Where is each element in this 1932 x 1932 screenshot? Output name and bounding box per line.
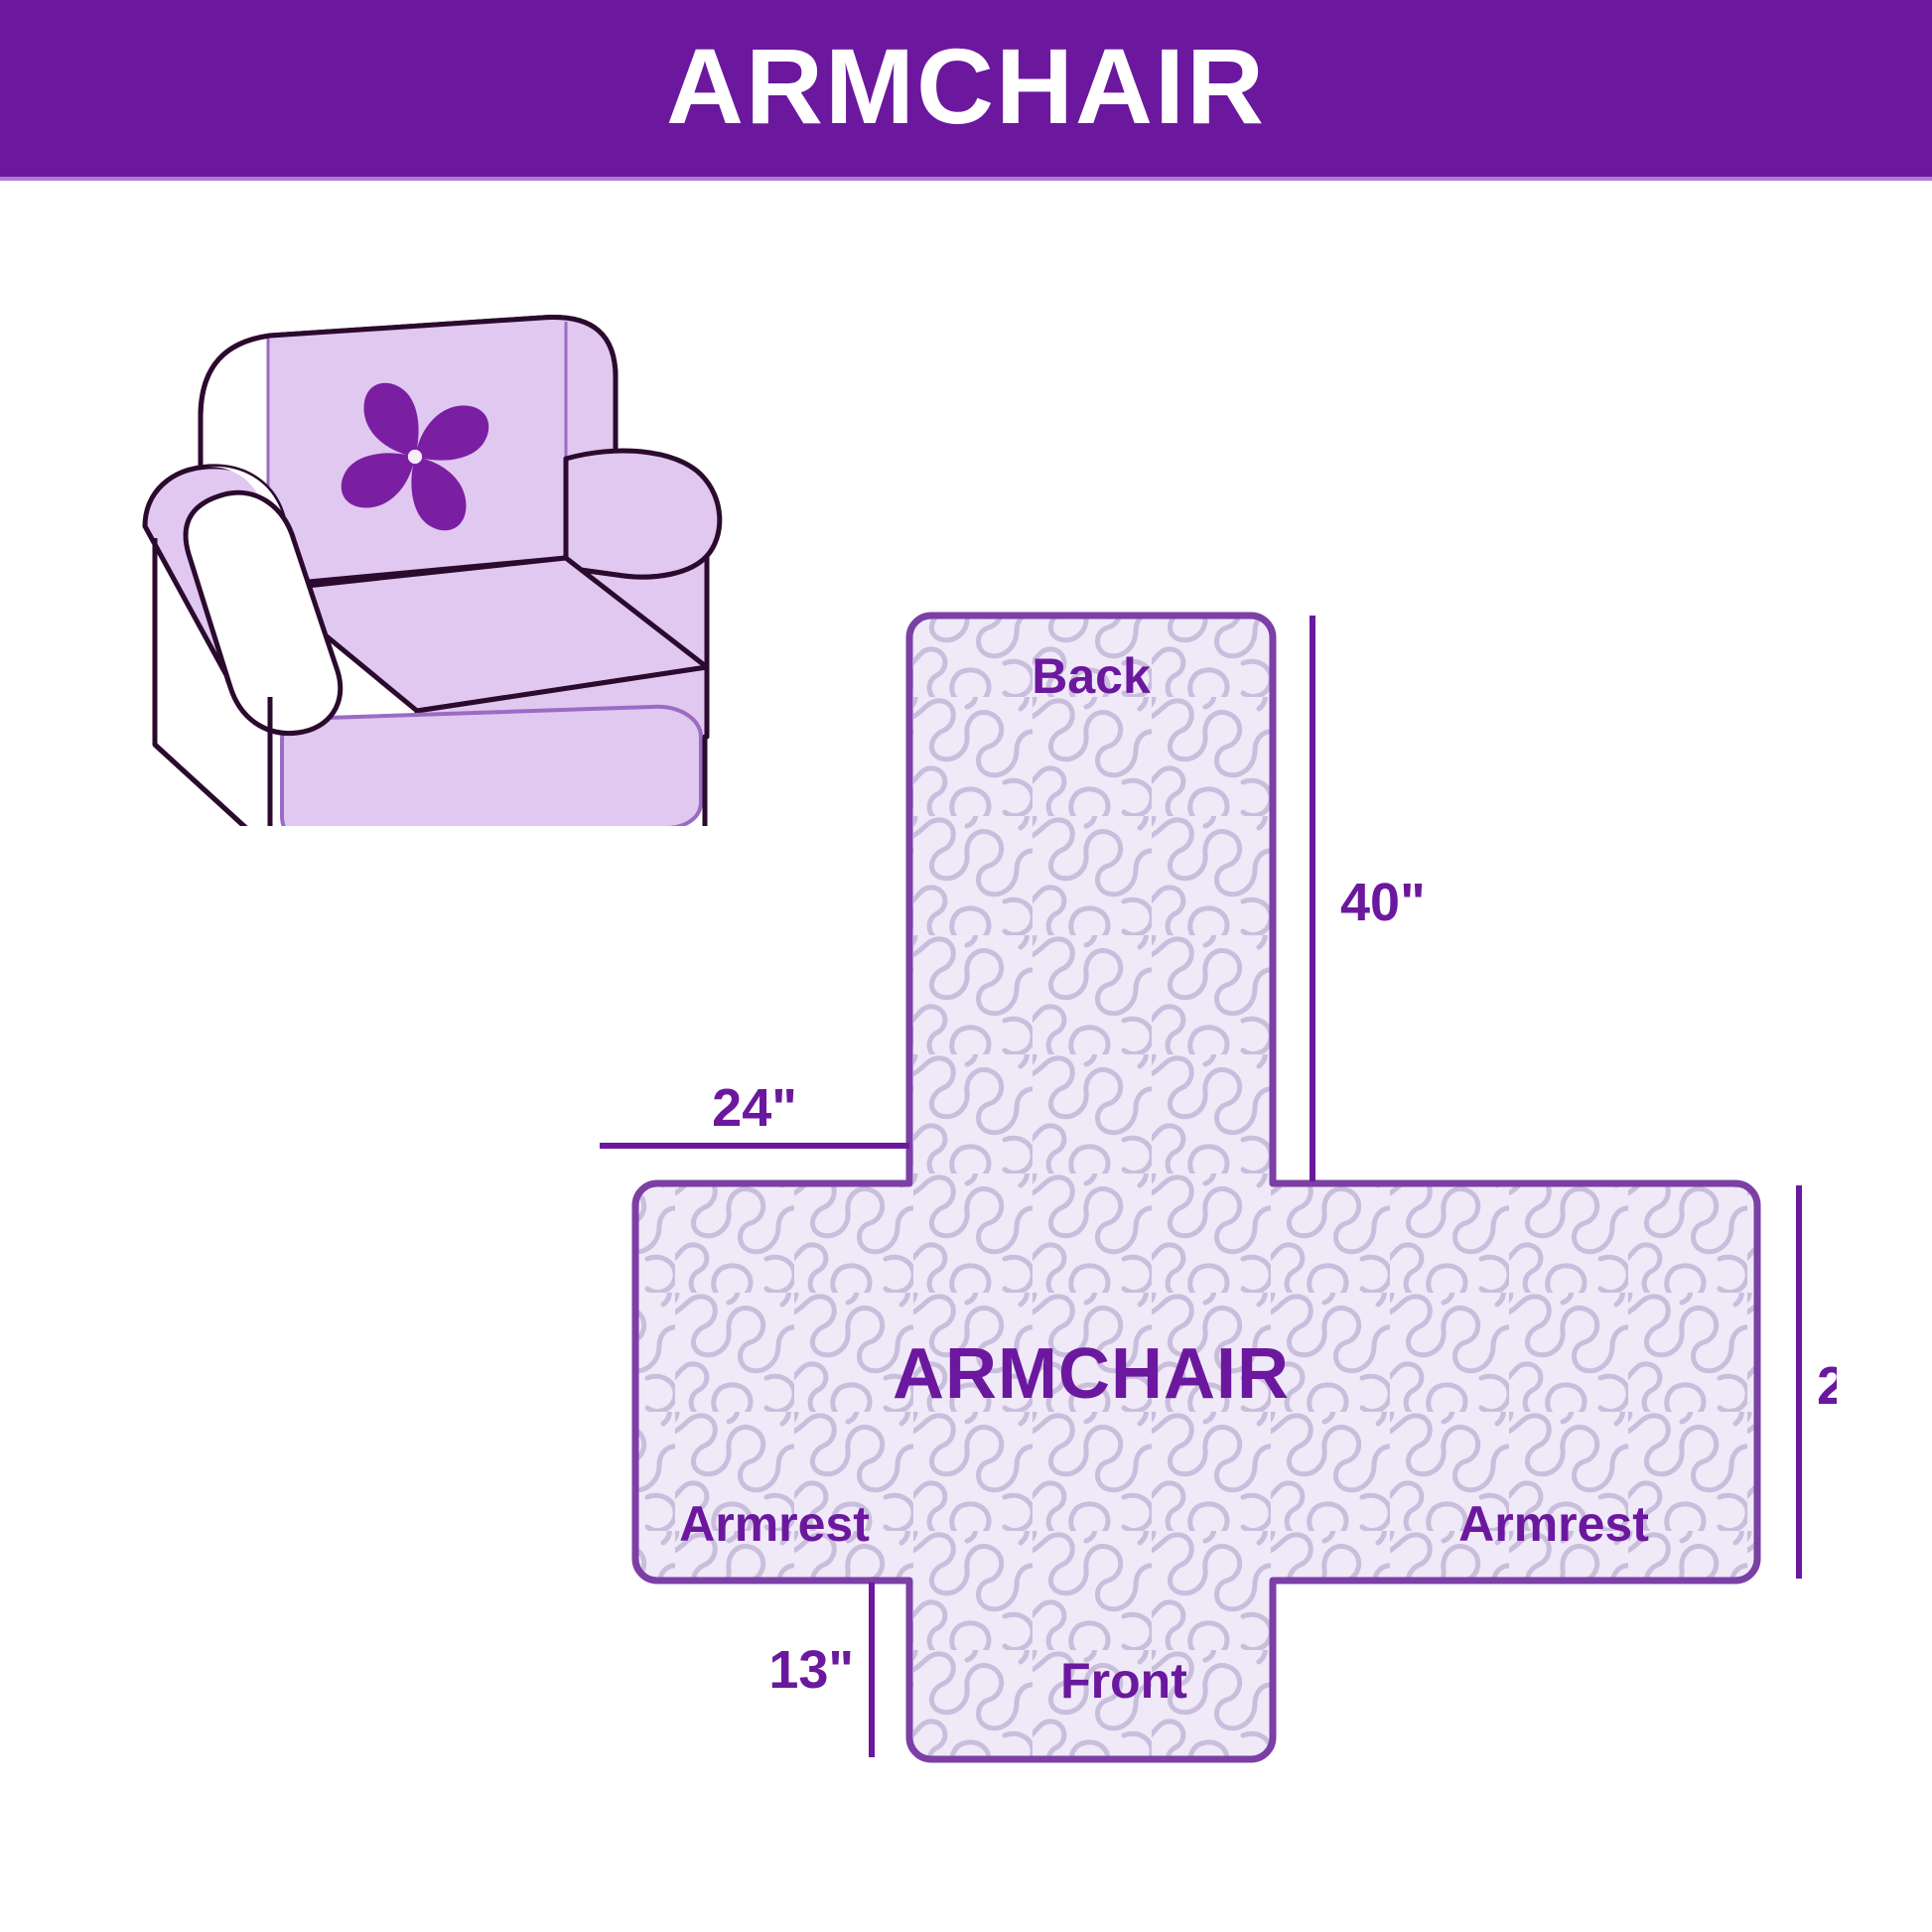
dimension-back-width-value: 24" bbox=[712, 1078, 797, 1138]
dimension-front-height-value: 13" bbox=[768, 1640, 854, 1700]
header-banner: ARMCHAIR bbox=[0, 0, 1932, 177]
section-label-back: Back bbox=[1032, 648, 1151, 704]
dimension-back-height: 40" bbox=[1312, 616, 1426, 1181]
dimension-back-width: 24" bbox=[600, 1078, 909, 1146]
center-label-armchair: ARMCHAIR bbox=[893, 1334, 1290, 1414]
dimension-armrest-height-value: 23" bbox=[1817, 1356, 1837, 1416]
dimension-back-height-value: 40" bbox=[1340, 873, 1426, 932]
section-label-armrest-left: Armrest bbox=[679, 1496, 870, 1552]
cover-pattern-diagram: Back ARMCHAIR Armrest Armrest Front 40" … bbox=[556, 578, 1837, 1769]
dimension-armrest-height: 23" bbox=[1799, 1185, 1837, 1579]
dimension-front-height: 13" bbox=[768, 1583, 872, 1757]
section-label-armrest-right: Armrest bbox=[1458, 1496, 1649, 1552]
cover-cross-shape bbox=[556, 578, 1837, 1769]
diagram-canvas: Back ARMCHAIR Armrest Armrest Front 40" … bbox=[0, 181, 1932, 1932]
section-label-front: Front bbox=[1060, 1653, 1187, 1709]
page-title: ARMCHAIR bbox=[666, 33, 1266, 140]
